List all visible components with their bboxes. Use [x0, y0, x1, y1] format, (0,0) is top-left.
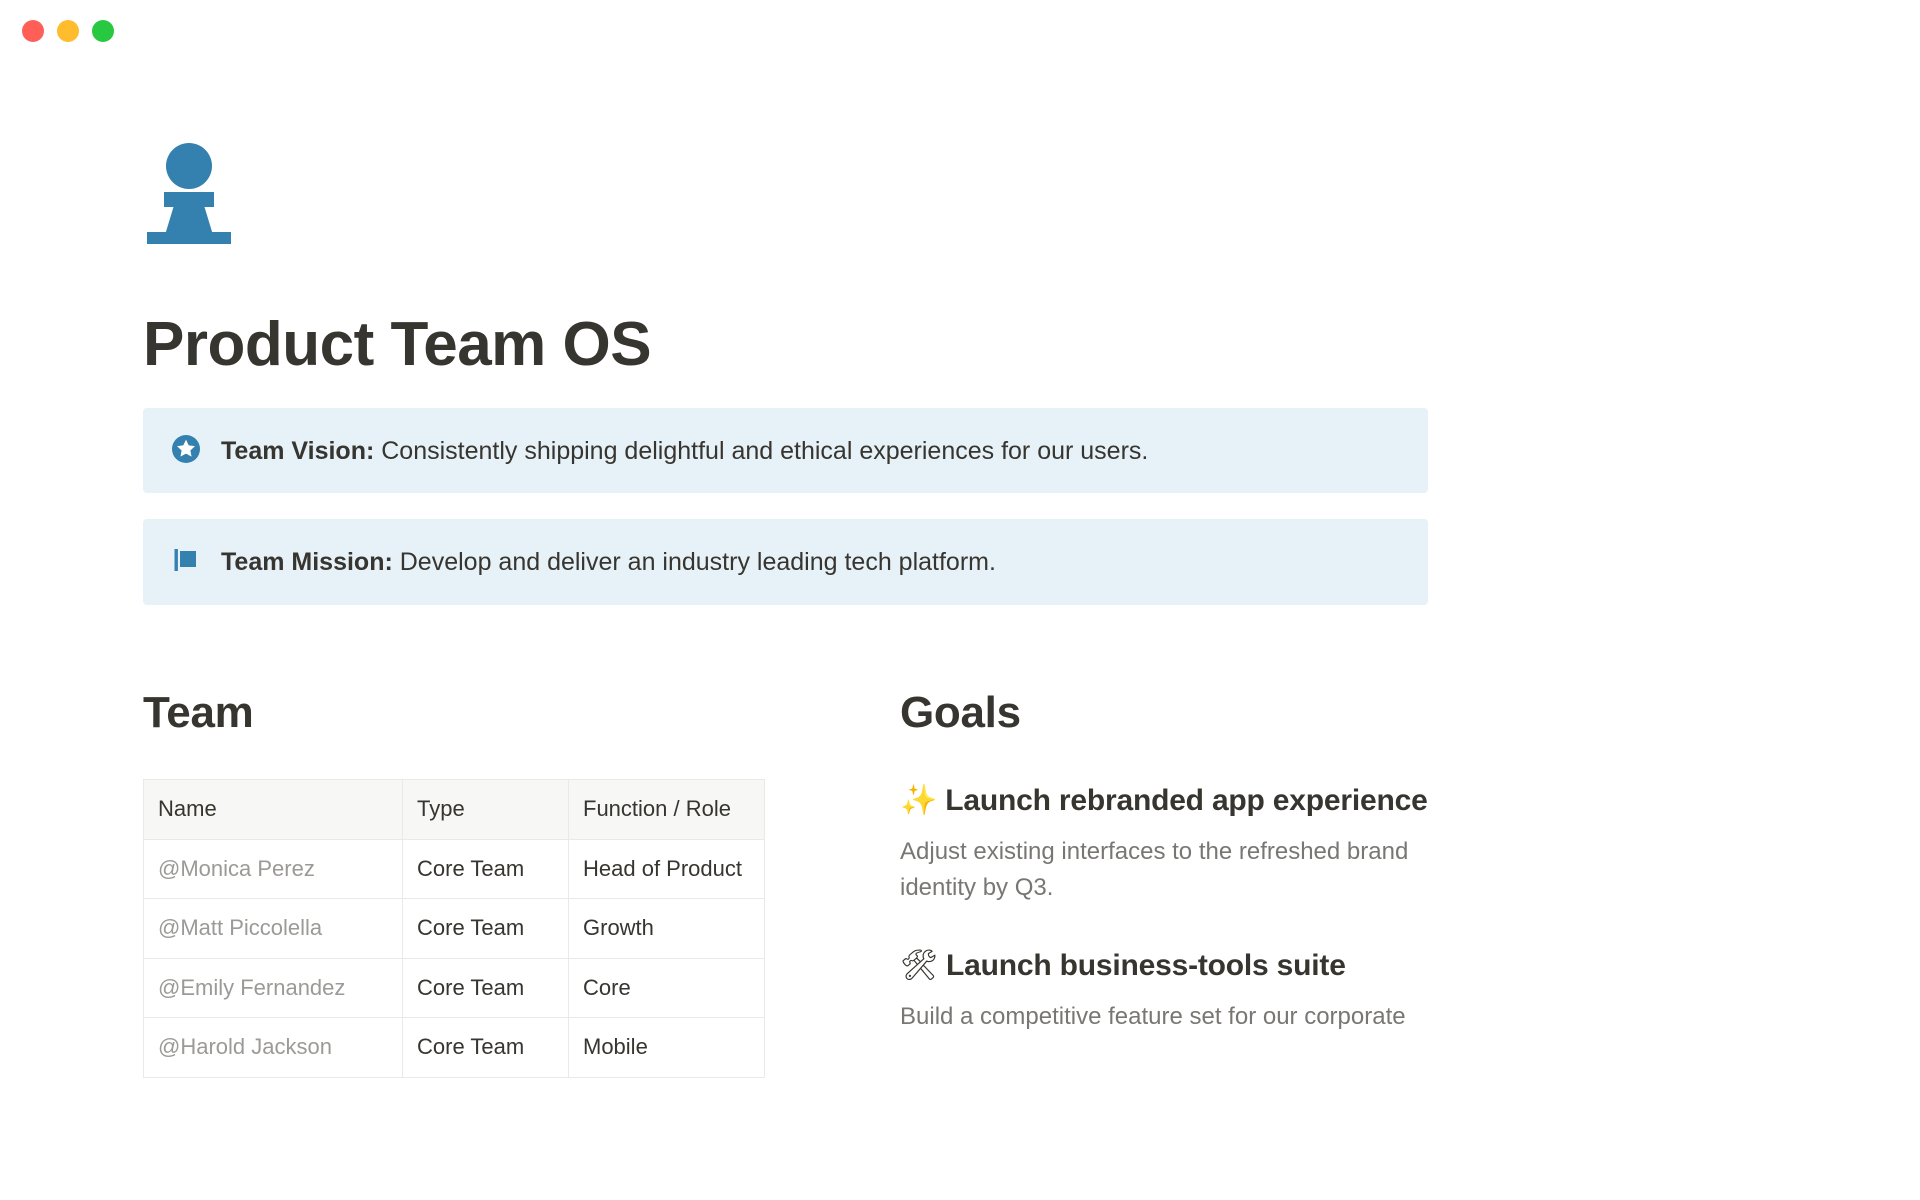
app-window: Product Team OS Team Vision: Consistentl… — [0, 0, 1920, 1200]
table-cell-type[interactable]: Core Team — [403, 1018, 569, 1078]
window-controls — [22, 20, 114, 42]
callout-team-vision-label: Team Vision: — [221, 437, 374, 465]
hammer-and-wrench-emoji: 🛠 — [900, 948, 938, 983]
table-row[interactable]: @Monica Perez Core Team Head of Product — [144, 839, 765, 899]
callout-team-mission-text: Team Mission: Develop and deliver an ind… — [221, 544, 996, 580]
minimize-window-button[interactable] — [57, 20, 79, 42]
callout-team-mission-label: Team Mission: — [221, 548, 393, 576]
table-header-row: Name Type Function / Role — [144, 780, 765, 840]
table-cell-type[interactable]: Core Team — [403, 899, 569, 959]
goal-description: Adjust existing interfaces to the refres… — [900, 834, 1445, 906]
callout-team-vision-body: Consistently shipping delightful and eth… — [374, 437, 1148, 465]
document-page: Product Team OS Team Vision: Consistentl… — [0, 140, 1920, 1078]
goals-section: Goals ✨ Launch rebranded app experience … — [900, 689, 1465, 1078]
table-cell-role[interactable]: Core — [569, 958, 765, 1018]
table-row[interactable]: @Matt Piccolella Core Team Growth — [144, 899, 765, 959]
callout-team-mission: Team Mission: Develop and deliver an ind… — [143, 519, 1428, 605]
goal-title: 🛠 Launch business-tools suite — [900, 946, 1465, 985]
table-column-header-role[interactable]: Function / Role — [569, 780, 765, 840]
close-window-button[interactable] — [22, 20, 44, 42]
table-cell-role[interactable]: Growth — [569, 899, 765, 959]
table-row[interactable]: @Harold Jackson Core Team Mobile — [144, 1018, 765, 1078]
goal-title-text: Launch business-tools suite — [946, 949, 1346, 982]
table-row[interactable]: @Emily Fernandez Core Team Core — [144, 958, 765, 1018]
goals-section-heading: Goals — [900, 689, 1465, 737]
table-cell-name[interactable]: @Emily Fernandez — [144, 958, 403, 1018]
window-titlebar — [0, 0, 1920, 62]
table-column-header-type[interactable]: Type — [403, 780, 569, 840]
star-circle-icon — [171, 434, 201, 464]
maximize-window-button[interactable] — [92, 20, 114, 42]
callout-team-mission-body: Develop and deliver an industry leading … — [393, 548, 996, 576]
goal-description: Build a competitive feature set for our … — [900, 999, 1445, 1035]
table-cell-type[interactable]: Core Team — [403, 958, 569, 1018]
table-cell-role[interactable]: Mobile — [569, 1018, 765, 1078]
team-table: Name Type Function / Role @Monica Perez … — [143, 779, 765, 1078]
table-cell-name[interactable]: @Matt Piccolella — [144, 899, 403, 959]
callout-team-vision: Team Vision: Consistently shipping delig… — [143, 408, 1428, 494]
table-cell-name[interactable]: @Harold Jackson — [144, 1018, 403, 1078]
table-cell-role[interactable]: Head of Product — [569, 839, 765, 899]
goal-item: 🛠 Launch business-tools suite Build a co… — [900, 946, 1465, 1035]
table-cell-name[interactable]: @Monica Perez — [144, 839, 403, 899]
goal-title: ✨ Launch rebranded app experience — [900, 781, 1465, 820]
callout-team-vision-text: Team Vision: Consistently shipping delig… — [221, 433, 1148, 469]
team-section-heading: Team — [143, 689, 768, 737]
goal-title-text: Launch rebranded app experience — [945, 784, 1427, 817]
table-column-header-name[interactable]: Name — [144, 780, 403, 840]
document-content: Product Team OS Team Vision: Consistentl… — [143, 140, 1583, 1078]
chess-pawn-icon[interactable] — [143, 140, 235, 244]
page-title: Product Team OS — [143, 312, 1583, 378]
table-cell-type[interactable]: Core Team — [403, 839, 569, 899]
team-section: Team Name Type Function / Role — [143, 689, 768, 1078]
goal-item: ✨ Launch rebranded app experience Adjust… — [900, 781, 1465, 906]
sparkles-emoji: ✨ — [900, 783, 937, 818]
two-column-layout: Team Name Type Function / Role — [143, 689, 1583, 1078]
flag-icon — [171, 545, 201, 575]
